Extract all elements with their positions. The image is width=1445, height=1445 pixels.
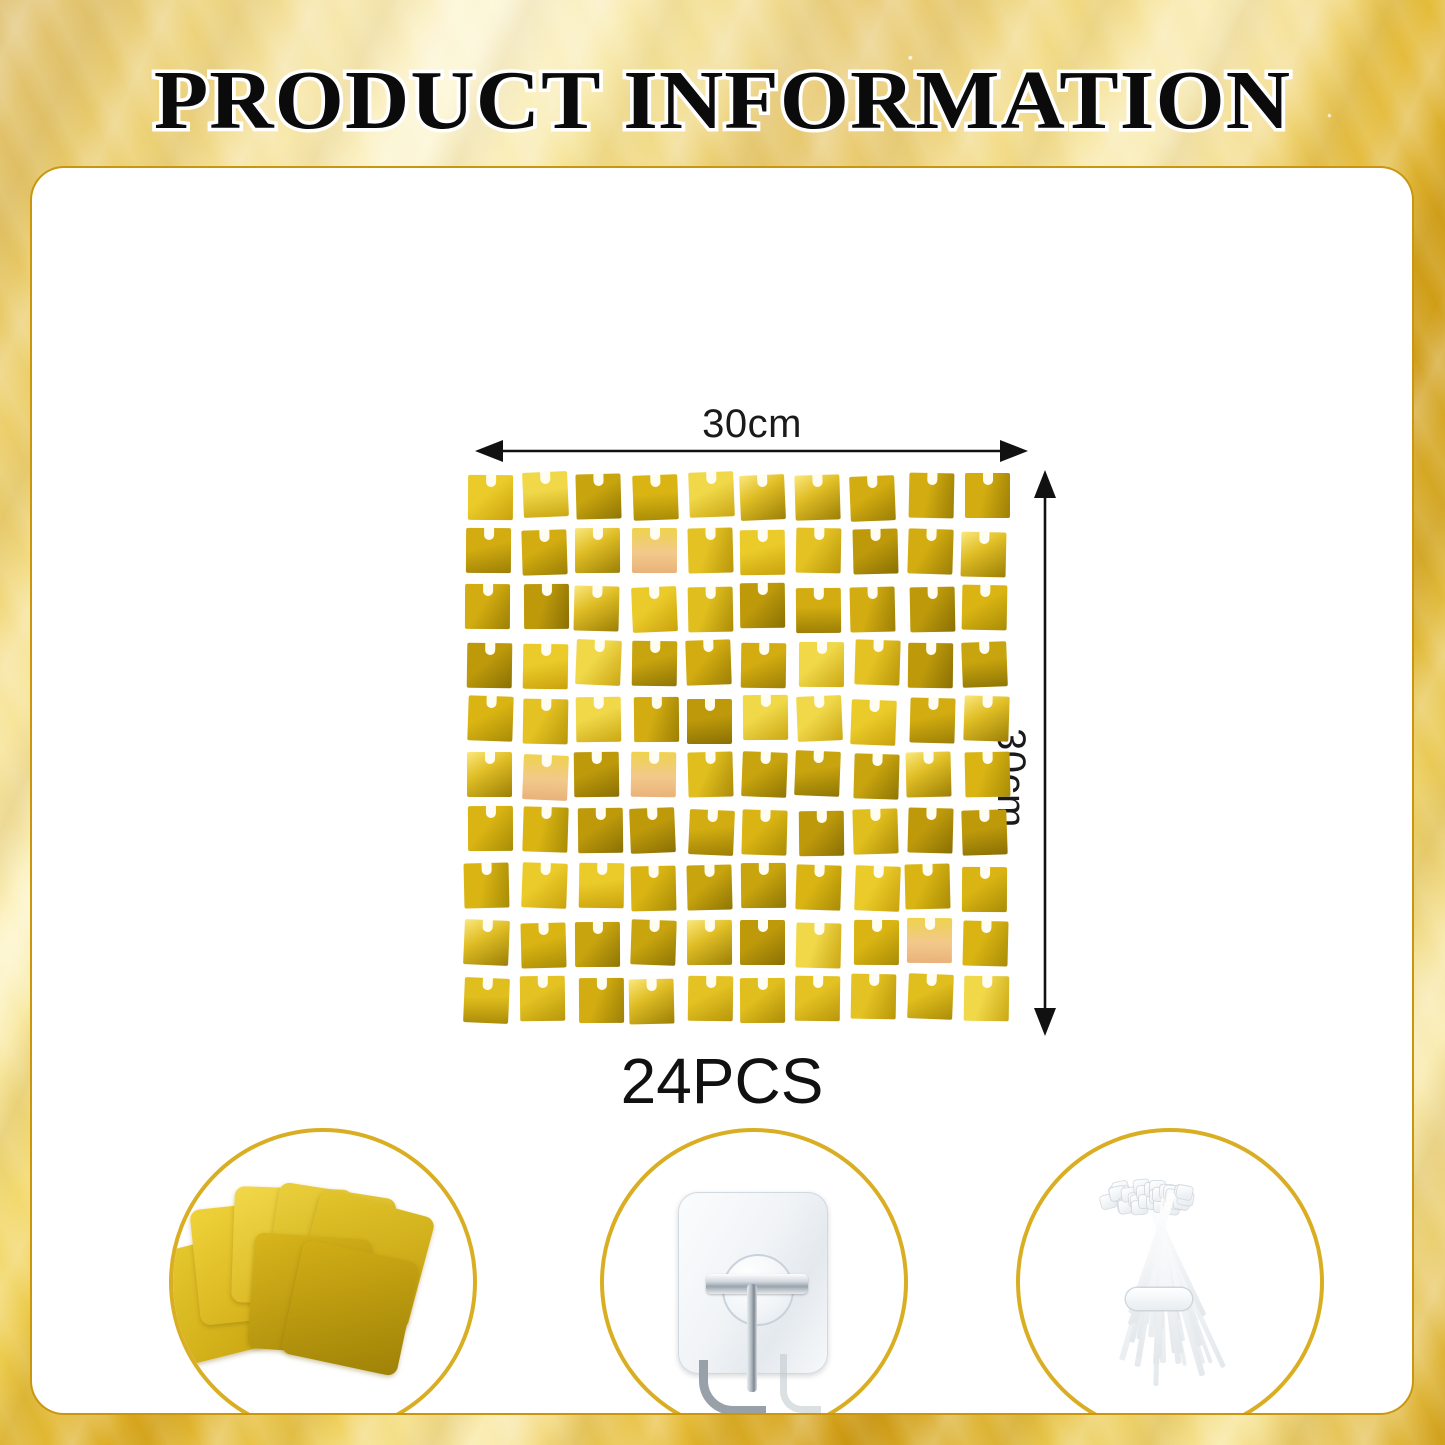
sequin-tile [794,750,841,797]
sequin-tile [961,642,1008,689]
sequin-tile [687,864,733,910]
sequin-tile [687,699,732,744]
sequin-tile [468,806,513,851]
sequin-tile [630,866,676,912]
height-dimension-arrow [1032,470,1058,1036]
sequin-tile [575,528,620,573]
sequin-tile [633,697,678,742]
sequin-tile [688,587,734,633]
sequin-tile [908,473,954,519]
sequin-tile [854,865,901,912]
sequin-tile [688,809,735,856]
sequin-tile [629,807,676,854]
sequin-tile [905,863,951,909]
sequin-tile [576,696,622,742]
sequin-tile [907,529,953,575]
sequin-tile [961,810,1007,856]
sequin-tile [523,806,569,852]
sequin-tile [522,529,568,575]
sequin-tile [523,698,569,744]
sequin-tile [796,587,841,632]
sequin-tile [631,752,676,797]
width-dimension-arrow [475,438,1028,464]
sequin-tile [740,978,785,1023]
sequin-tile [522,471,569,518]
sequin-tile [962,585,1008,631]
sequin-tile [578,863,624,909]
sequin-tile [579,978,624,1023]
sequin-tile [795,475,841,521]
sequin-tile [685,640,731,686]
sequin-tile [632,528,677,573]
sequin-tile [795,528,841,574]
sequin-tile [799,642,844,687]
sequin-tile [575,639,622,686]
sequin-tile [795,864,841,910]
zip-tie-band [1126,1288,1192,1310]
sequin-tile [468,475,513,520]
sequin-tile [520,976,565,1021]
sequin-tile [740,642,786,688]
sequin-tile [799,811,844,856]
sequin-panel-image [466,474,1018,1032]
sequin-tile [741,751,788,798]
sequin-tile [631,586,678,633]
sequin-tile [521,862,568,909]
sequin-tile [907,643,952,688]
hook-j-curve [699,1360,766,1413]
sequin-tile [631,919,678,966]
sequin-tile [688,976,734,1022]
sequin-tile [688,528,734,574]
sequin-tile [740,583,785,628]
spare-sequins-circle [169,1128,477,1413]
feature-spare-sequins: Spare Sequins [138,1128,508,1413]
sequin-tile [849,475,896,522]
sequin-tile [907,973,954,1020]
sequin-tile [463,977,510,1024]
sequin-tile [961,867,1006,912]
sequin-tile [463,919,510,966]
sequin-tile [464,863,510,909]
sequin-tile [965,751,1011,797]
sequin-tile [467,642,513,688]
sequin-tile [523,643,569,689]
sequin-tile [524,584,569,629]
sequin-tile [739,474,786,521]
sequin-tile [850,586,896,632]
quantity-label: 24PCS [32,1044,1412,1118]
sequin-tile [854,639,900,685]
sequin-tile [467,696,513,742]
sequin-tile [466,528,511,573]
sequin-tile [632,640,678,686]
sequin-tile [575,473,621,519]
sequin-tile [909,697,955,743]
sequin-tile [522,755,569,802]
spare-sequin-piece [280,1239,420,1377]
sequin-tile [851,974,897,1020]
sequin-tile [740,920,785,965]
sequin-tile [740,529,786,575]
sequin-tile [686,919,731,964]
sequin-tile [965,473,1010,518]
sequin-tile [961,532,1007,578]
sequin-tile [743,695,788,740]
sequin-tile [632,474,679,521]
sequin-tile [854,920,899,965]
sequin-tile [853,529,899,575]
sequin-tile [467,752,512,797]
sequin-tile [688,471,735,518]
sequin-tile [963,921,1009,967]
sequin-tile [741,862,786,907]
sequin-tile [629,978,675,1024]
sequin-tile [574,922,619,967]
hook-bar [706,1274,808,1294]
sequin-tile [910,587,956,633]
sequin-tile [853,753,899,799]
feature-zip-ties: 100Pcs Zip Ties [985,1128,1355,1413]
sequin-tile [963,695,1009,741]
sequin-tile [907,918,952,963]
sequin-tile [796,695,843,742]
sequin-tile [741,810,787,856]
page-title: PRODUCT INFORMATION [0,52,1445,149]
hook-shadow [780,1354,821,1413]
zip-ties-circle [1016,1128,1324,1413]
sequin-tile [852,808,898,854]
sequin-tile [577,808,622,853]
sequin-tile [465,584,510,629]
sequin-tile [795,976,841,1022]
sequin-tile [850,699,897,746]
sequin-tile [521,922,567,968]
sequin-tile [907,807,953,853]
sequin-tile [796,922,842,968]
feature-wall-hooks: 10Pcs Wall Hooks [569,1128,939,1413]
sequin-tile [574,585,620,631]
wall-hooks-circle [600,1128,908,1413]
sequin-tile [687,751,733,797]
sequin-tile [906,752,952,798]
product-info-card: 30cm 30cm 24PCS Spare Sequins [32,168,1412,1413]
sequin-tile [964,976,1010,1022]
sequin-tile [574,751,620,797]
zip-tie-head [1176,1185,1193,1201]
